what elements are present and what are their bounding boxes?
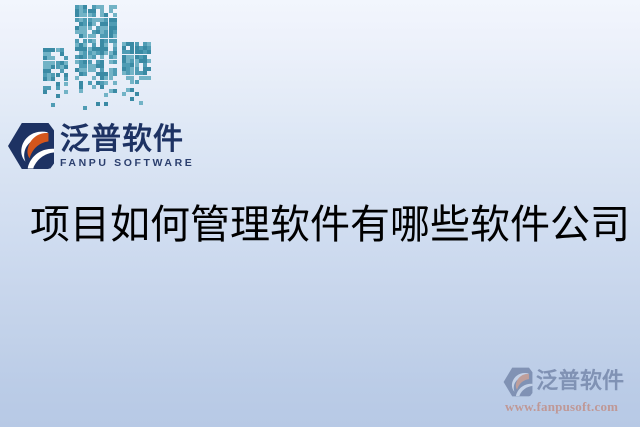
brand-logo: 泛普软件 FANPU SOFTWARE xyxy=(8,118,198,174)
cityscape-pixel xyxy=(64,90,68,94)
cityscape-pixel xyxy=(79,89,83,93)
cityscape-pixel xyxy=(96,102,100,106)
cityscape-pixel xyxy=(130,97,134,101)
cityscape-pixel xyxy=(100,85,104,89)
cityscape-pixel xyxy=(64,65,68,69)
cityscape-pixel xyxy=(135,80,139,84)
brand-name-cn: 泛普软件 xyxy=(60,124,194,156)
watermark-logo-row: 泛普软件 xyxy=(503,366,635,398)
cityscape-pixel xyxy=(147,50,151,54)
cityscape-pixel xyxy=(51,103,55,107)
cityscape-pixel xyxy=(122,92,126,96)
cityscape-pixel xyxy=(104,81,108,85)
watermark: 泛普软件 www.fanpusoft.com xyxy=(503,366,635,418)
page-title: 项目如何管理软件有哪些软件公司 xyxy=(30,203,630,248)
cityscape-pixel xyxy=(64,82,68,86)
poster-canvas: 泛普软件 FANPU SOFTWARE 项目如何管理软件有哪些软件公司 泛普软件… xyxy=(0,0,640,427)
brand-name-en: FANPU SOFTWARE xyxy=(60,158,194,169)
watermark-url: www.fanpusoft.com xyxy=(505,399,635,415)
pixel-cityscape-graphic xyxy=(38,2,158,114)
cityscape-pixel xyxy=(43,90,47,94)
cityscape-pixel xyxy=(92,85,96,89)
cityscape-pixel xyxy=(147,67,151,71)
cityscape-pixel xyxy=(104,102,108,106)
watermark-name-cn: 泛普软件 xyxy=(536,371,624,393)
cityscape-pixel xyxy=(56,94,60,98)
cityscape-pixel xyxy=(113,89,117,93)
cityscape-pixel xyxy=(104,93,108,97)
cityscape-pixel xyxy=(113,5,117,9)
brand-logo-text: 泛普软件 FANPU SOFTWARE xyxy=(60,124,194,169)
cityscape-pixel xyxy=(83,106,87,110)
cityscape-pixel xyxy=(113,60,117,64)
fanpu-logo-mark xyxy=(8,122,54,170)
cityscape-pixel xyxy=(113,72,117,76)
cityscape-pixel xyxy=(83,72,87,76)
cityscape-pixel xyxy=(147,76,151,80)
cityscape-pixel xyxy=(135,92,139,96)
cityscape-pixel xyxy=(47,86,51,90)
cityscape-pixel xyxy=(147,59,151,63)
fanpu-watermark-mark xyxy=(503,367,533,397)
cityscape-pixel xyxy=(113,81,117,85)
cityscape-pixel xyxy=(56,86,60,90)
cityscape-pixel xyxy=(139,101,143,105)
cityscape-pixel xyxy=(56,73,60,77)
